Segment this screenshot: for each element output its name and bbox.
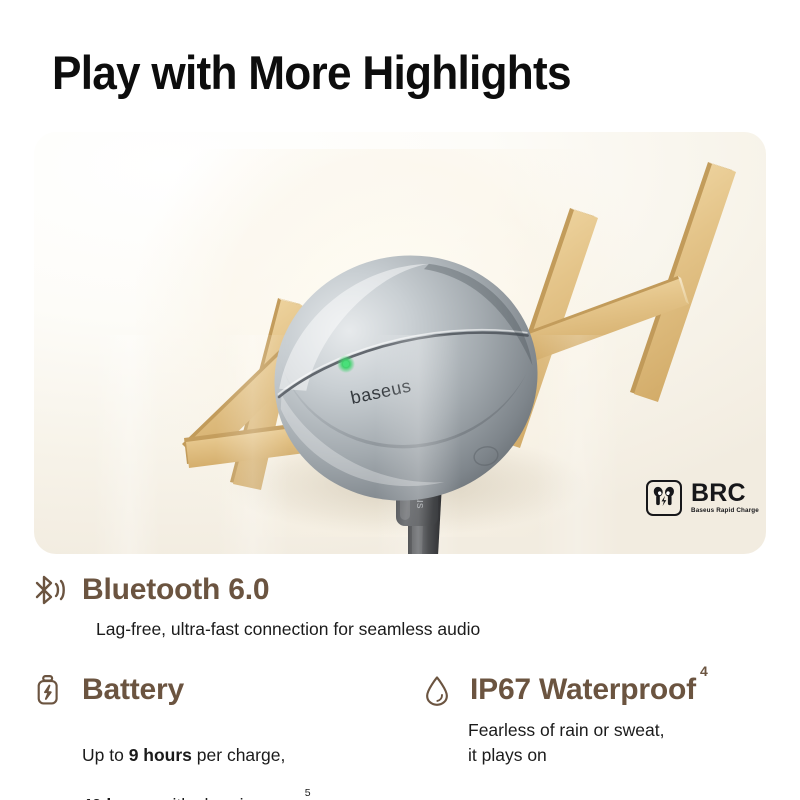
battery-line2-bold: 40 hours [82, 795, 155, 800]
battery-charging-icon [30, 670, 68, 710]
product-highlight-page: Play with More Highlights [0, 0, 800, 800]
water-drop-icon [418, 670, 456, 710]
feature-title-bluetooth: Bluetooth 6.0 [82, 573, 269, 607]
feature-desc-waterproof: Fearless of rain or sweat, it plays on [468, 718, 708, 768]
waterproof-footnote-marker: 4 [700, 663, 708, 679]
feature-desc-battery: Up to 9 hours per charge, 40 hours with … [82, 718, 311, 800]
battery-line1-bold: 9 hours [129, 745, 192, 765]
brc-subtitle: Baseus Rapid Charge [691, 508, 759, 514]
battery-footnote-marker: 5 [305, 787, 311, 799]
battery-line1-post: per charge, [192, 745, 285, 765]
feature-title-battery: Battery [82, 673, 184, 707]
brc-title: BRC [691, 481, 759, 506]
brc-badge: BRC Baseus Rapid Charge [646, 480, 759, 516]
bluetooth-icon [30, 570, 68, 610]
earbuds-charge-icon [646, 480, 682, 516]
battery-line2-post: with charging case [155, 795, 305, 800]
feature-title-waterproof: IP67 Waterproof4 [470, 673, 708, 707]
feature-battery: Battery Up to 9 hours per charge, 40 hou… [30, 670, 311, 800]
feature-waterproof: IP67 Waterproof4 Fearless of rain or swe… [418, 670, 708, 768]
hero-product-card: baseus baseus [34, 132, 766, 554]
waterproof-title-text: IP67 Waterproof [470, 673, 696, 706]
feature-bluetooth: Bluetooth 6.0 Lag-free, ultra-fast conne… [30, 570, 480, 642]
page-title: Play with More Highlights [52, 45, 571, 100]
battery-line1-pre: Up to [82, 745, 129, 765]
feature-desc-bluetooth: Lag-free, ultra-fast connection for seam… [96, 617, 480, 642]
